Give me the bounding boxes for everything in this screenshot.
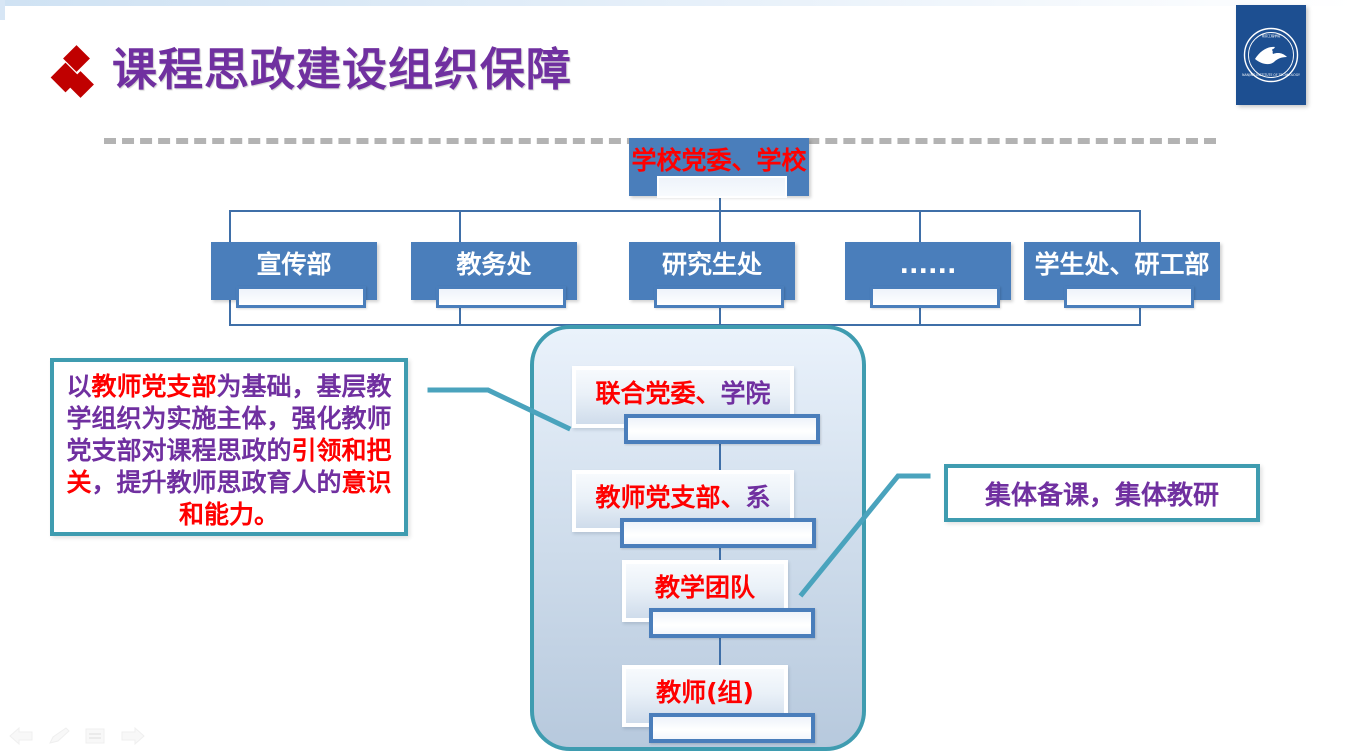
callout-line1-a: 以 — [66, 372, 91, 401]
org-node-ellipsis[interactable]: ...... — [845, 242, 1011, 300]
org-node-label-red: 联合党委、 — [595, 379, 720, 408]
org-node-teaching-team[interactable]: 教学团队 — [622, 560, 788, 626]
org-node-slot — [624, 414, 820, 444]
slide-canvas: 课程思政建设组织保障 南京工程学院 NANJING INSTITUTE OF T… — [0, 0, 1355, 751]
org-node-slot — [436, 286, 566, 308]
org-node-joint-party-committee[interactable]: 联合党委、学院 — [572, 366, 794, 432]
org-node-label-purple: 系 — [746, 483, 771, 512]
callout-left-text: 以教师党支部为基础，基层教学组织为实施主体，强化教师党支部对课程思政的引领和把关… — [62, 371, 396, 531]
org-node-label: 教师党支部、系 — [572, 482, 794, 514]
org-node-label-red: 教师党支部、 — [595, 483, 745, 512]
org-node-academic-affairs-office[interactable]: 教务处 — [411, 242, 577, 300]
org-node-student-affairs[interactable]: 学生处、研工部 — [1024, 242, 1220, 300]
callout-line5-c: 。 — [254, 500, 279, 529]
slide-left-accent-band — [0, 0, 5, 20]
connector-up-1 — [229, 300, 231, 325]
slide-header: 课程思政建设组织保障 — [0, 26, 1290, 121]
org-node-label: 教学团队 — [622, 572, 788, 604]
callout-line3-b: 引 — [291, 436, 316, 465]
org-node-slot — [657, 176, 787, 198]
callout-line1-b: 教师党支部 — [91, 372, 216, 401]
callout-line1-c: 为基础，基层 — [217, 372, 367, 401]
connector-drop-1 — [229, 210, 231, 242]
org-node-label: ...... — [845, 249, 1011, 281]
svg-text:南京工程学院: 南京工程学院 — [1262, 33, 1281, 38]
university-seal-logo: 南京工程学院 NANJING INSTITUTE OF TECHNOLOGY — [1236, 5, 1306, 105]
org-node-teacher-party-branch[interactable]: 教师党支部、系 — [572, 470, 794, 536]
connector-drop-4 — [919, 210, 921, 242]
org-node-slot — [870, 286, 1000, 308]
connector-drop-5 — [1139, 210, 1141, 242]
org-node-teacher-group[interactable]: 教师(组) — [622, 665, 788, 731]
org-node-label: 联合党委、学院 — [572, 378, 794, 410]
org-node-slot — [649, 713, 815, 743]
org-node-slot — [1064, 286, 1194, 308]
pen-tool-icon[interactable] — [46, 726, 72, 746]
slideshow-nav-icons — [8, 726, 158, 750]
org-node-label: 教务处 — [411, 249, 577, 281]
next-slide-arrow-icon[interactable] — [120, 726, 146, 746]
org-node-label: 学校党委、学校 — [629, 145, 809, 177]
org-node-label: 宣传部 — [211, 249, 377, 281]
connector-drop-3 — [719, 210, 721, 242]
org-node-label: 研究生处 — [629, 249, 795, 281]
callout-right-text: 集体备课，集体教研 — [948, 479, 1256, 513]
callout-line5-a: 人的 — [292, 468, 342, 497]
callout-right[interactable]: 集体备课，集体教研 — [944, 464, 1260, 522]
slide-menu-icon[interactable] — [82, 726, 108, 746]
org-node-slot — [654, 286, 784, 308]
org-node-label-purple: 学院 — [721, 379, 771, 408]
connector-level2-bar — [229, 210, 1141, 212]
org-node-label: 教师(组) — [622, 677, 788, 709]
org-node-slot — [236, 286, 366, 308]
previous-slide-arrow-icon[interactable] — [8, 726, 34, 746]
callout-left[interactable]: 以教师党支部为基础，基层教学组织为实施主体，强化教师党支部对课程思政的引领和把关… — [50, 358, 408, 536]
page-title: 课程思政建设组织保障 — [112, 40, 572, 100]
callout-line4-b: ，提升教师思政育 — [91, 468, 291, 497]
org-node-label-red: 教师(组) — [656, 678, 754, 707]
org-node-publicity-department[interactable]: 宣传部 — [211, 242, 377, 300]
org-node-slot — [649, 608, 815, 638]
org-node-label-red: 教学团队 — [655, 573, 755, 602]
org-node-label: 学生处、研工部 — [1024, 249, 1220, 281]
org-node-slot — [620, 518, 816, 548]
slide-top-accent-band — [0, 0, 1355, 6]
connector-drop-2 — [459, 210, 461, 242]
svg-text:NANJING INSTITUTE OF TECHNOLOG: NANJING INSTITUTE OF TECHNOLOGY — [1242, 73, 1300, 77]
org-node-school-party-committee[interactable]: 学校党委、学校 — [629, 138, 809, 196]
diamond-bullet-icon — [50, 44, 108, 106]
org-node-graduate-office[interactable]: 研究生处 — [629, 242, 795, 300]
callout-right-leader-line — [798, 468, 950, 600]
